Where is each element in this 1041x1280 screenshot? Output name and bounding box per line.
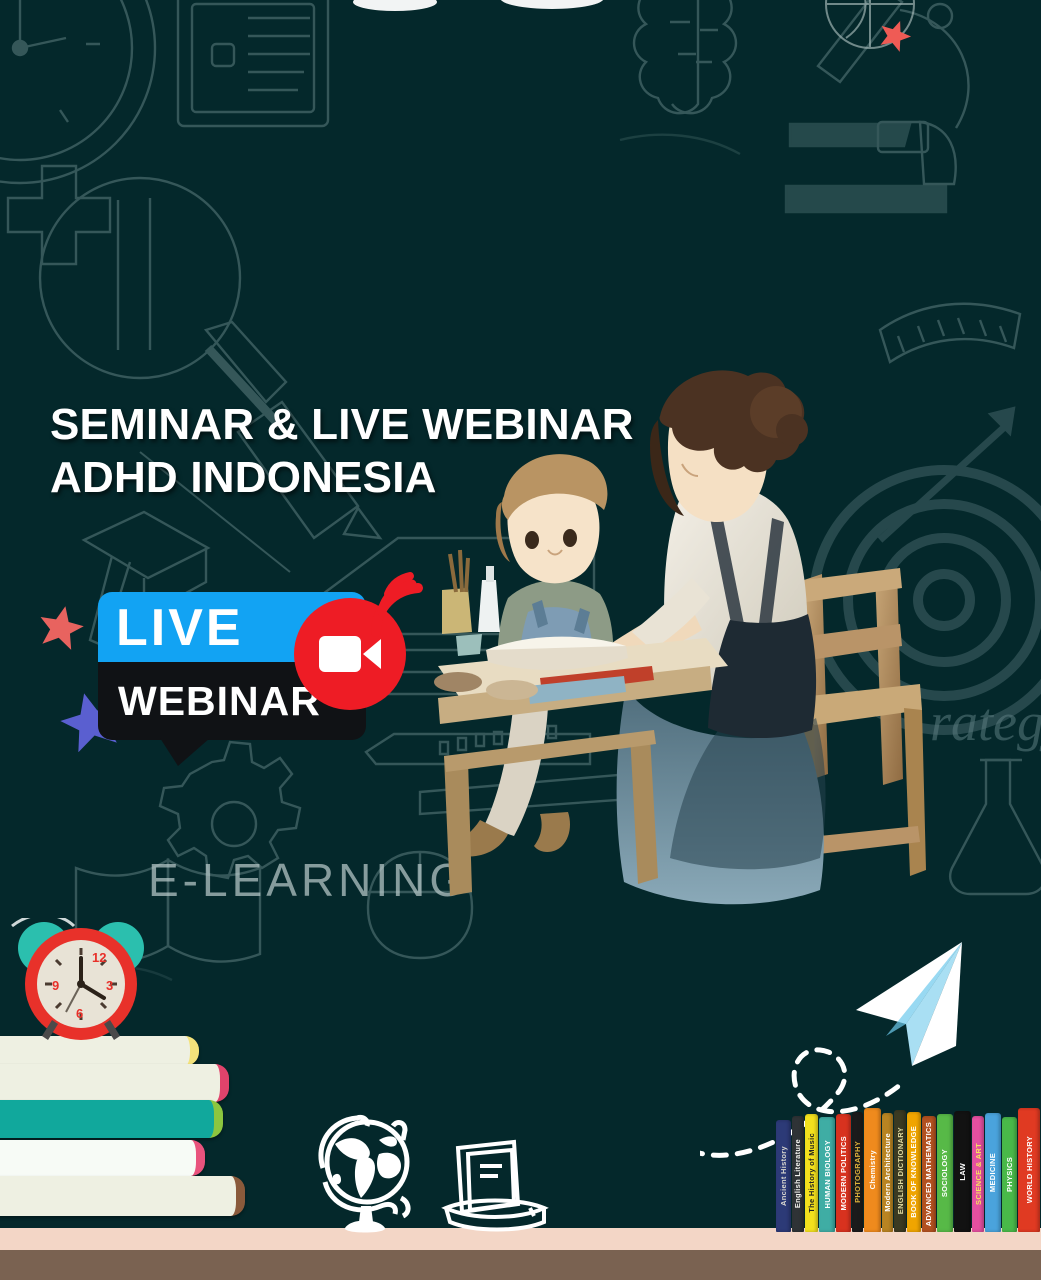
book-spine: WORLD HISTORY	[1018, 1108, 1040, 1232]
svg-text:3: 3	[106, 978, 113, 993]
svg-text:12: 12	[92, 950, 106, 965]
book-spine-title: PHYSICS	[1005, 1157, 1014, 1192]
book-spine: LAW	[954, 1111, 971, 1232]
book-spine-title: Chemistry	[868, 1150, 877, 1189]
book-spine: MODERN POLITICS	[836, 1114, 851, 1232]
book-spine: Modern Architecture	[882, 1113, 893, 1232]
book-spine: Chemistry	[864, 1108, 882, 1232]
poster-canvas: E-LEARNING rategy SEMINAR & LIVE WEBINAR…	[0, 0, 1041, 1280]
clipboard-doodle-icon	[178, 0, 328, 126]
book-spine-title: MEDICINE	[988, 1153, 997, 1192]
book-teal	[0, 1100, 223, 1138]
book-spine-title: MODERN POLITICS	[839, 1136, 848, 1211]
brain-doodle-icon	[634, 0, 736, 113]
book-stack	[0, 1034, 256, 1234]
ruler-doodle-icon	[880, 304, 1020, 362]
magnifier-doodle-icon	[40, 178, 286, 426]
book-spine-title: ENGLISH DICTIONARY	[896, 1127, 905, 1214]
book-spine-title: LAW	[958, 1163, 967, 1181]
book-spine: ENGLISH DICTIONARY	[894, 1110, 906, 1232]
book-spine: PHOTOGRAPHY	[852, 1112, 863, 1232]
book-spine: HUMAN BIOLOGY	[819, 1117, 835, 1232]
book-spine-title: BOOK OF KNOWLEDGE	[909, 1126, 918, 1218]
svg-text:6: 6	[76, 1006, 83, 1021]
book-spine: SCIENCE & ART	[972, 1116, 984, 1232]
book-spine-title: English Literature	[793, 1139, 802, 1208]
svg-text:9: 9	[52, 978, 59, 993]
star-red-icon	[38, 604, 84, 650]
star-red-small-icon	[878, 18, 912, 52]
book-spine-title: HUMAN BIOLOGY	[823, 1140, 832, 1208]
book-spine: Ancient History	[776, 1120, 791, 1232]
book-cream-pink	[0, 1064, 229, 1102]
book-spine: PHYSICS	[1002, 1117, 1018, 1232]
book-spine-title: The History of Music	[807, 1133, 816, 1213]
book-spine-title: SCIENCE & ART	[974, 1143, 983, 1205]
webinar-label: WEBINAR	[98, 681, 321, 722]
wifi-signal-icon	[366, 558, 446, 642]
speech-bubble-tail	[160, 738, 210, 766]
chalk-marks	[353, 0, 604, 11]
globe-icon	[305, 1110, 435, 1240]
headline-line-1: SEMINAR & LIVE WEBINAR	[50, 398, 690, 451]
book-spine: MEDICINE	[985, 1113, 1001, 1232]
live-webinar-badge[interactable]: LIVE WEBINAR	[98, 592, 418, 760]
book-rose	[0, 1140, 205, 1176]
book-spine-title: Modern Architecture	[883, 1133, 892, 1212]
shelf-body	[0, 1250, 1041, 1280]
book-cream-brown	[0, 1176, 245, 1216]
book-spine: BOOK OF KNOWLEDGE	[907, 1112, 921, 1232]
book-spine-title: WORLD HISTORY	[1025, 1136, 1034, 1203]
plus-doodle-icon	[8, 166, 110, 264]
book-spine: English Literature	[792, 1116, 804, 1232]
tablet-stand-icon	[438, 1124, 558, 1244]
live-label: LIVE	[98, 602, 244, 654]
book-spine-title: Ancient History	[779, 1146, 788, 1206]
book-spine-title: PHOTOGRAPHY	[853, 1141, 862, 1203]
alarm-clock-icon: 123 69	[6, 918, 156, 1058]
book-spine: The History of Music	[805, 1114, 819, 1232]
book-spine: SOCIOLOGY	[937, 1114, 954, 1232]
headline-line-2: ADHD INDONESIA	[50, 451, 690, 504]
clock-doodle-icon	[0, 0, 155, 183]
page-title: SEMINAR & LIVE WEBINAR ADHD INDONESIA	[50, 398, 690, 504]
book-spine-title: ADVANCED MATHEMATICS	[924, 1122, 933, 1226]
book-spine-title: SOCIOLOGY	[940, 1149, 949, 1197]
book-spine: ADVANCED MATHEMATICS	[922, 1116, 936, 1232]
bookshelf-books: Ancient HistoryEnglish LiteratureThe His…	[776, 1108, 1041, 1232]
